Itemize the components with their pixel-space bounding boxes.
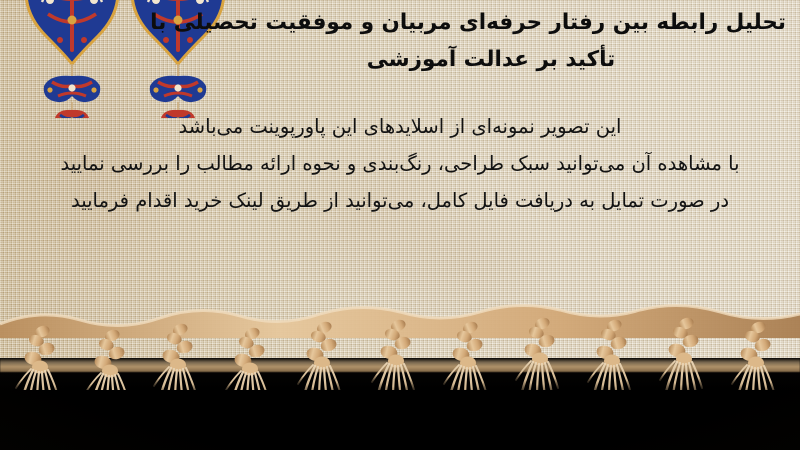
slide-body: این تصویر نمونه‌ای از اسلایدهای این پاور… [10,108,790,219]
powerpoint-slide: تحلیل رابطه بین رفتار حرفه‌ای مربیان و م… [0,0,800,450]
slide-body-line-3: در صورت تمایل به دریافت فایل کامل، می‌تو… [10,182,790,219]
black-bottom-band [0,358,800,450]
slide-title: تحلیل رابطه بین رفتار حرفه‌ای مربیان و م… [196,4,786,78]
slide-title-line-1: تحلیل رابطه بین رفتار حرفه‌ای مربیان و م… [196,4,786,41]
slide-body-line-2: با مشاهده آن می‌توانید سبک طراحی، رنگ‌بن… [10,145,790,182]
slide-body-line-1: این تصویر نمونه‌ای از اسلایدهای این پاور… [10,108,790,145]
slide-title-line-2: تأکید بر عدالت آموزشی [196,41,786,78]
